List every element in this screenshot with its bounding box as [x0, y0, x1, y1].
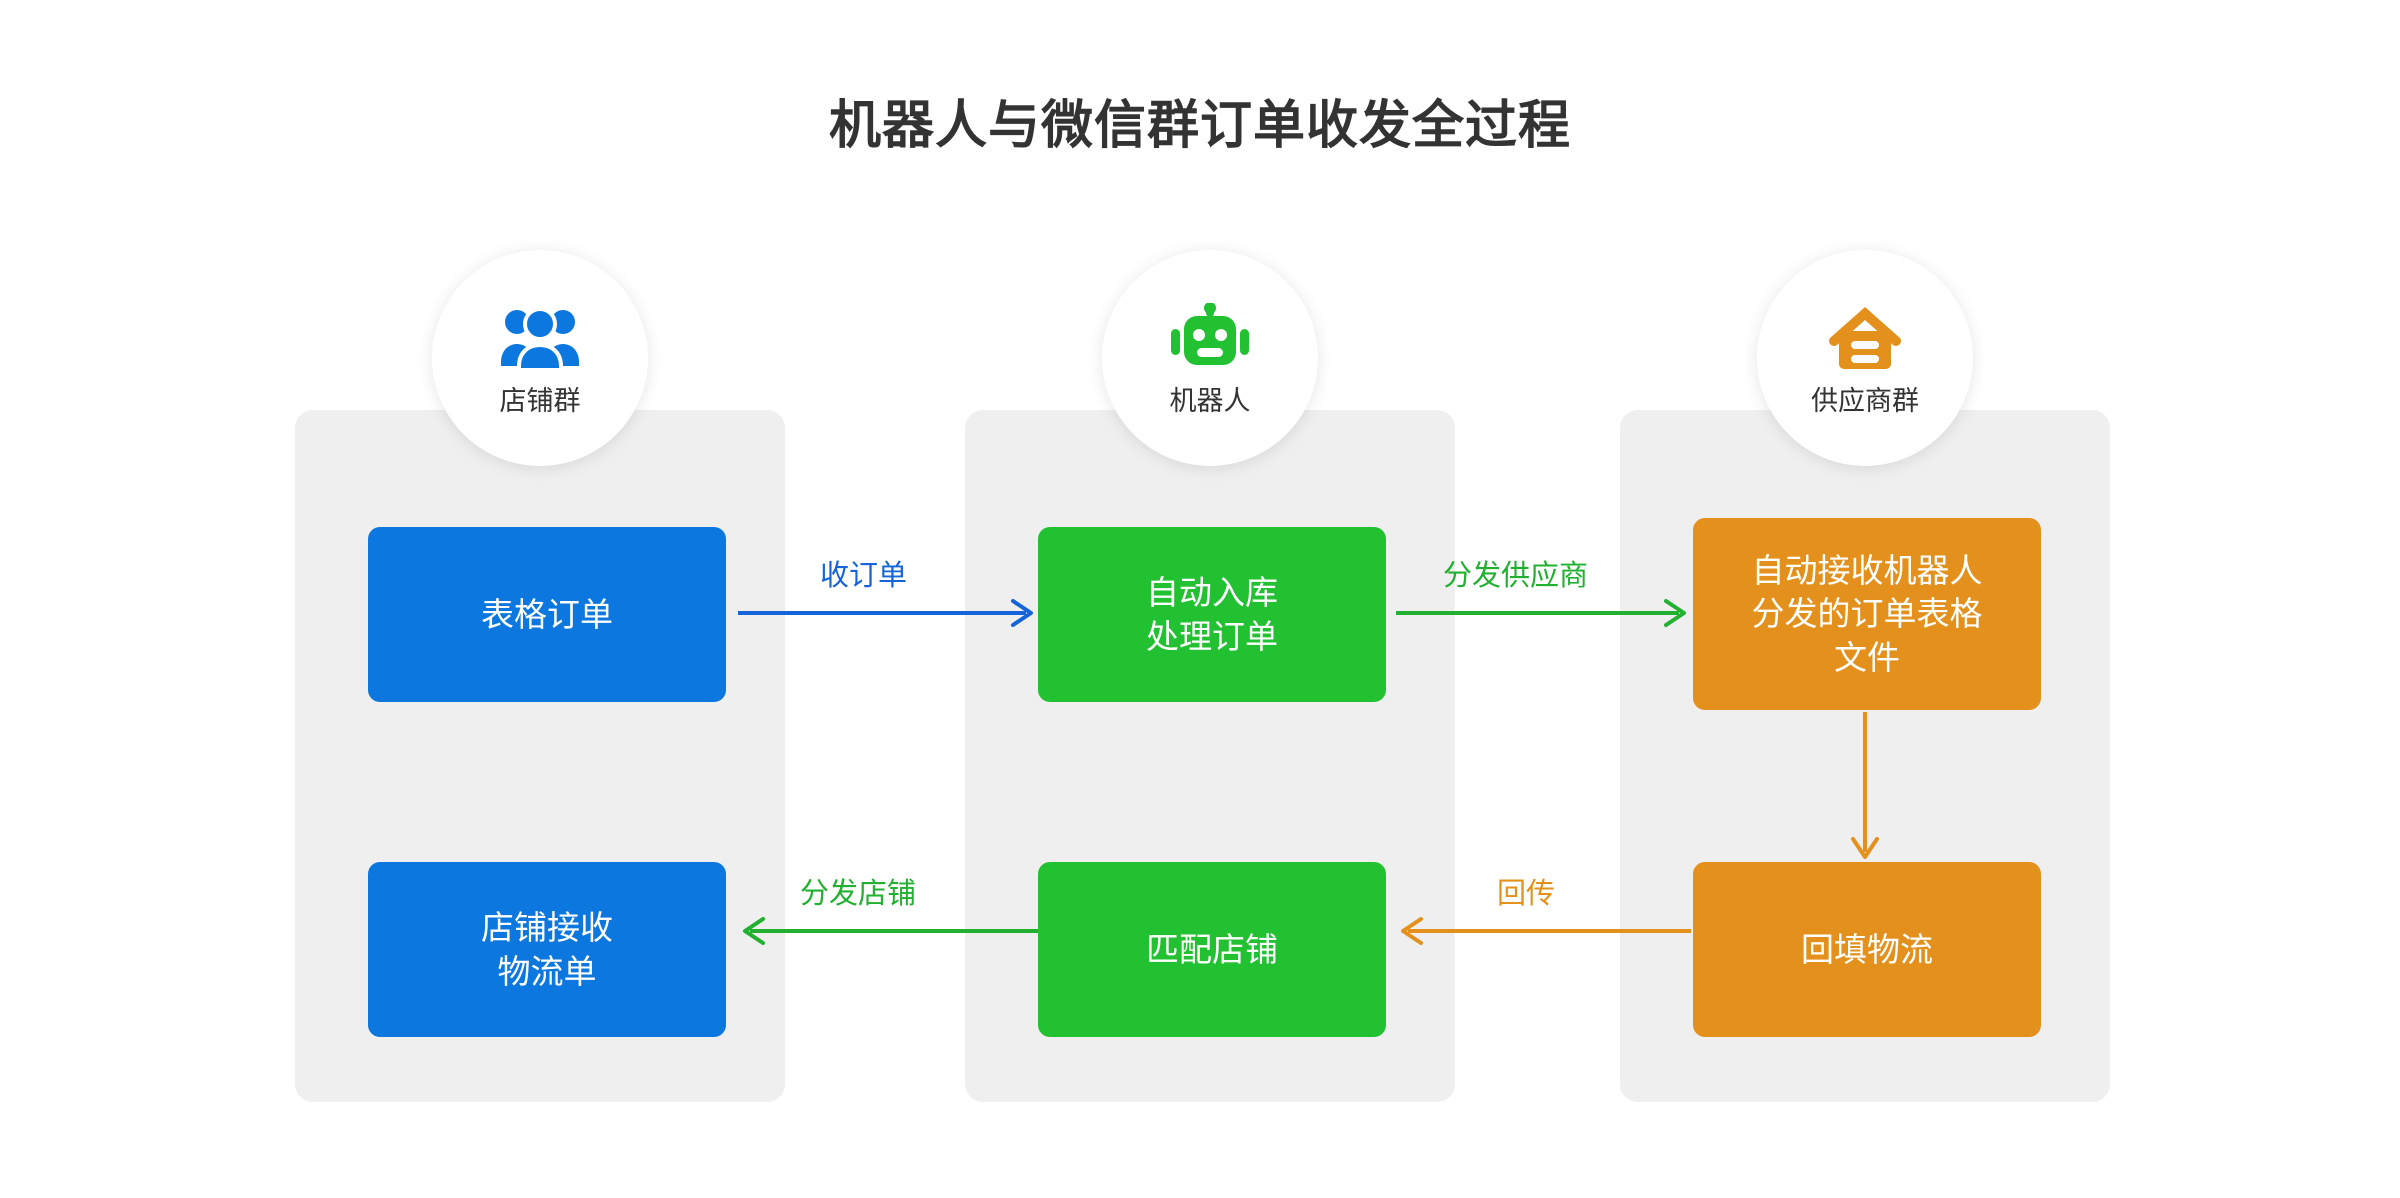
node-label-line3: 文件	[1752, 636, 1983, 680]
node-label: 匹配店铺	[1146, 928, 1278, 972]
node-label-line1: 店铺接收	[481, 906, 613, 950]
node-label-line2: 分发的订单表格	[1752, 592, 1983, 636]
connector-label-distribute-supplier: 分发供应商	[1443, 562, 1588, 591]
node-label: 表格订单	[481, 593, 613, 637]
node-label: 回填物流	[1801, 928, 1933, 972]
page-title: 机器人与微信群订单收发全过程	[0, 95, 2400, 157]
connector-label-return: 回传	[1497, 880, 1555, 909]
node-match-shop[interactable]: 匹配店铺	[1038, 862, 1386, 1037]
node-label-line1: 自动入库	[1146, 571, 1278, 615]
node-form-order[interactable]: 表格订单	[368, 527, 726, 702]
connector-fill-down-arrow	[1852, 712, 1878, 862]
node-auto-stock[interactable]: 自动入库 处理订单	[1038, 527, 1386, 702]
node-label-block: 店铺接收 物流单	[481, 906, 613, 993]
lane-header-supplier[interactable]: 供应商群	[1757, 250, 1973, 466]
node-fill-logistics[interactable]: 回填物流	[1693, 862, 2041, 1037]
diagram-canvas: 机器人与微信群订单收发全过程 店铺群	[0, 0, 2400, 1198]
warehouse-house-icon	[1823, 302, 1907, 374]
node-label-block: 自动接收机器人 分发的订单表格 文件	[1752, 549, 1983, 680]
connector-label-receive-order: 收订单	[820, 562, 907, 591]
lane-header-label: 供应商群	[1811, 388, 1919, 415]
connector-distribute-shop-arrow	[738, 918, 1038, 944]
node-shop-receive[interactable]: 店铺接收 物流单	[368, 862, 726, 1037]
lane-header-robot[interactable]: 机器人	[1102, 250, 1318, 466]
robot-icon	[1168, 302, 1252, 374]
node-label-line1: 自动接收机器人	[1752, 549, 1983, 593]
node-label-block: 自动入库 处理订单	[1146, 571, 1278, 658]
lane-header-label: 机器人	[1170, 388, 1251, 415]
node-auto-receive[interactable]: 自动接收机器人 分发的订单表格 文件	[1693, 518, 2041, 710]
lane-header-shop[interactable]: 店铺群	[432, 250, 648, 466]
connector-return-arrow	[1396, 918, 1691, 944]
node-label-line2: 物流单	[481, 950, 613, 994]
lane-header-label: 店铺群	[500, 388, 581, 415]
connector-receive-order-arrow	[738, 600, 1038, 626]
people-group-icon	[498, 302, 582, 374]
node-label-line2: 处理订单	[1146, 615, 1278, 659]
connector-distribute-supplier-arrow	[1396, 600, 1691, 626]
connector-label-distribute-shop: 分发店铺	[800, 880, 916, 909]
